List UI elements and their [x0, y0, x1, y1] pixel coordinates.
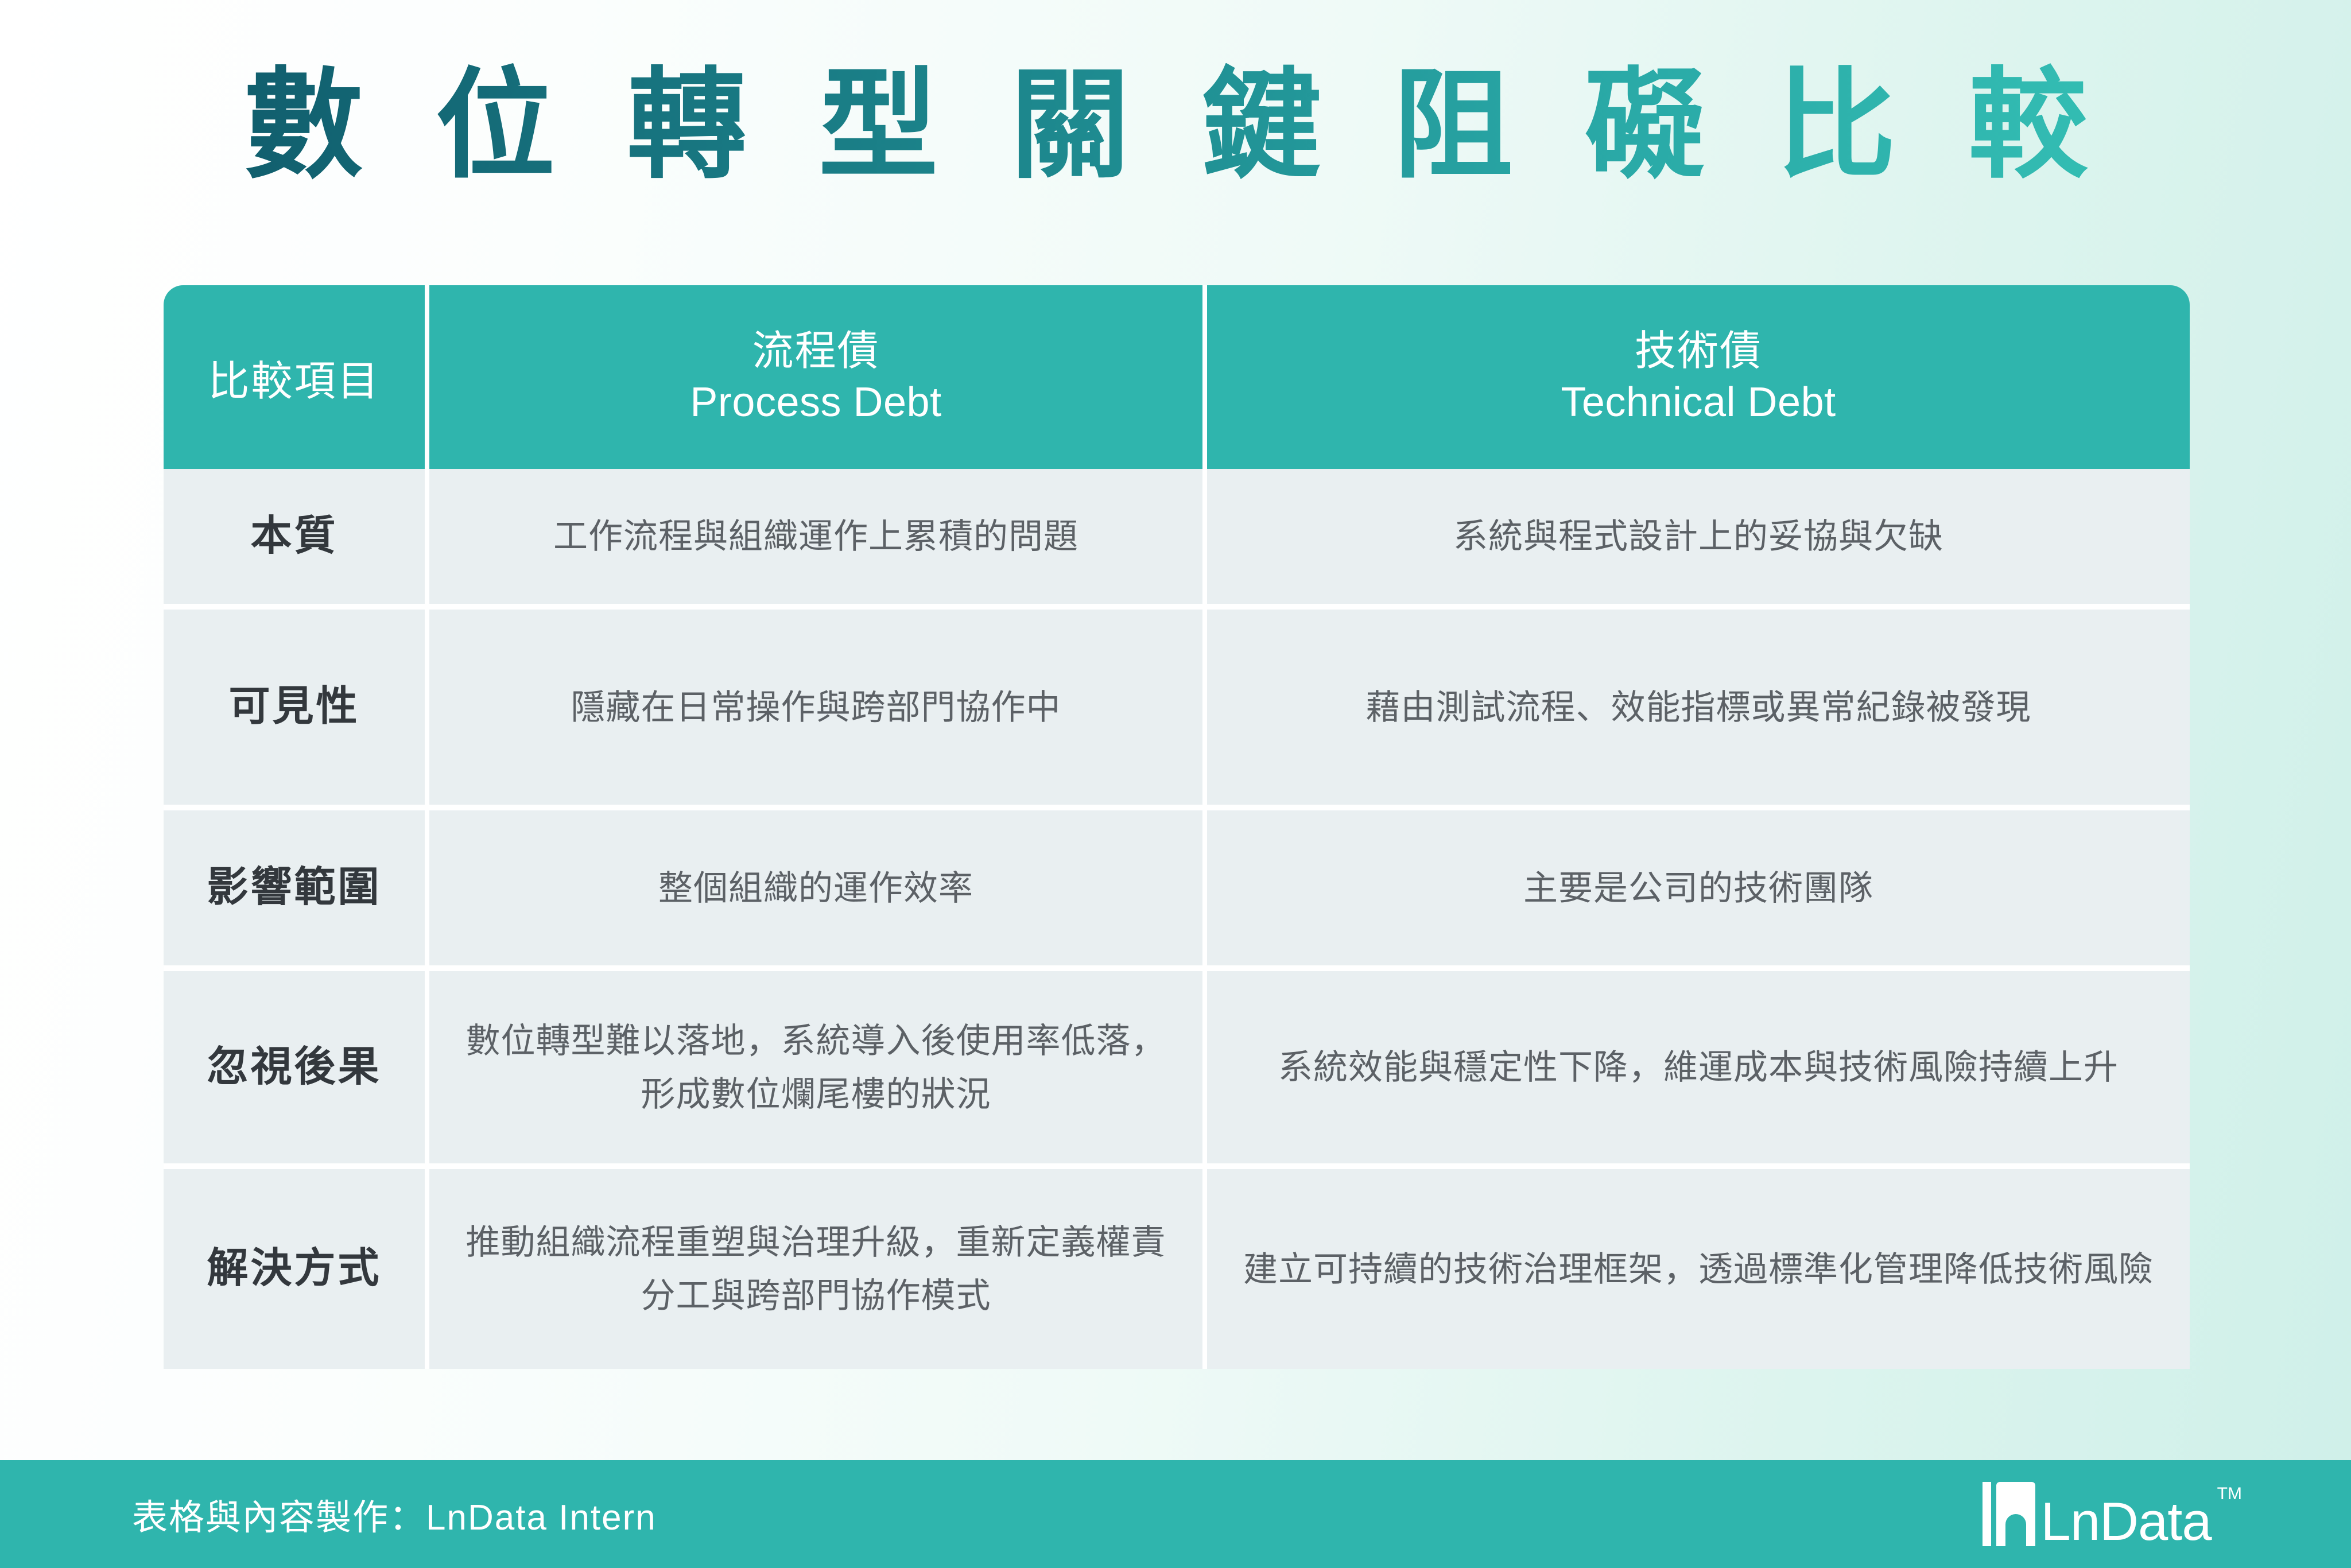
lndata-logo: LnData TM	[1983, 1482, 2242, 1546]
header-cell-process-debt: 流程債 Process Debt	[425, 285, 1202, 469]
footer-credit-text: 表格與內容製作：LnData Intern	[132, 1488, 657, 1540]
header-cell-technical-debt: 技術債 Technical Debt	[1202, 285, 2190, 469]
table-row: 本質 工作流程與組織運作上累積的問題 系統與程式設計上的妥協與欠缺	[164, 469, 2190, 604]
table-row: 可見性 隱藏在日常操作與跨部門協作中 藉由測試流程、效能指標或異常紀錄被發現	[164, 604, 2190, 805]
header-technical-debt-en: Technical Debt	[1561, 377, 1836, 428]
row-technical-cell: 建立可持續的技術治理框架，透過標準化管理降低技術風險	[1202, 1169, 2190, 1369]
header-cell-compare-item: 比較項目	[164, 285, 425, 469]
row-process-cell: 推動組織流程重塑與治理升級，重新定義權責分工與跨部門協作模式	[425, 1169, 1202, 1369]
row-technical-cell: 藉由測試流程、效能指標或異常紀錄被發現	[1202, 610, 2190, 805]
row-process-cell: 隱藏在日常操作與跨部門協作中	[425, 610, 1202, 805]
row-technical-text: 建立可持續的技術治理框架，透過標準化管理降低技術風險	[1243, 1243, 2154, 1296]
row-label-text: 本質	[250, 510, 337, 564]
table-header-row: 比較項目 流程債 Process Debt 技術債 Technical Debt	[164, 285, 2190, 469]
row-process-text: 推動組織流程重塑與治理升級，重新定義權責分工與跨部門協作模式	[456, 1216, 1176, 1322]
row-process-text: 整個組織的運作效率	[658, 861, 973, 915]
row-technical-cell: 主要是公司的技術團隊	[1202, 810, 2190, 965]
row-label-text: 忽視後果	[207, 1041, 381, 1095]
header-compare-item-label: 比較項目	[208, 347, 380, 407]
row-label-cell: 可見性	[164, 610, 425, 805]
table-row: 解決方式 推動組織流程重塑與治理升級，重新定義權責分工與跨部門協作模式 建立可持…	[164, 1163, 2190, 1369]
row-process-text: 數位轉型難以落地，系統導入後使用率低落，形成數位爛尾樓的狀況	[456, 1014, 1176, 1121]
row-label-cell: 影響範圍	[164, 810, 425, 965]
row-label-text: 影響範圍	[207, 861, 381, 915]
header-process-debt-en: Process Debt	[690, 377, 941, 428]
row-technical-text: 系統效能與穩定性下降，維運成本與技術風險持續上升	[1278, 1041, 2119, 1094]
row-technical-cell: 系統效能與穩定性下降，維運成本與技術風險持續上升	[1202, 971, 2190, 1163]
row-technical-text: 主要是公司的技術團隊	[1523, 861, 1873, 915]
title-container: 數 位 轉 型 關 鍵 阻 礙 比 較	[0, 63, 2351, 188]
row-label-text: 可見性	[228, 680, 359, 734]
trademark-symbol: TM	[2217, 1484, 2242, 1504]
header-process-debt-cn: 流程債	[752, 326, 879, 377]
row-technical-text: 系統與程式設計上的妥協與欠缺	[1453, 510, 1943, 563]
row-label-text: 解決方式	[207, 1242, 381, 1296]
row-process-text: 隱藏在日常操作與跨部門協作中	[571, 681, 1061, 734]
table-row: 影響範圍 整個組織的運作效率 主要是公司的技術團隊	[164, 805, 2190, 965]
row-process-cell: 數位轉型難以落地，系統導入後使用率低落，形成數位爛尾樓的狀況	[425, 971, 1202, 1163]
logo-arch-icon	[1996, 1482, 2035, 1546]
row-process-text: 工作流程與組織運作上累積的問題	[553, 510, 1078, 563]
comparison-table: 比較項目 流程債 Process Debt 技術債 Technical Debt…	[164, 285, 2190, 1443]
footer-bar: 表格與內容製作：LnData Intern LnData TM	[0, 1460, 2351, 1568]
table-row: 忽視後果 數位轉型難以落地，系統導入後使用率低落，形成數位爛尾樓的狀況 系統效能…	[164, 965, 2190, 1163]
lndata-logo-wordmark: LnData	[2041, 1497, 2212, 1546]
logo-bar-icon	[1983, 1482, 1991, 1546]
row-label-cell: 忽視後果	[164, 971, 425, 1163]
row-technical-text: 藉由測試流程、效能指標或異常紀錄被發現	[1366, 681, 2031, 734]
row-technical-cell: 系統與程式設計上的妥協與欠缺	[1202, 469, 2190, 604]
row-label-cell: 本質	[164, 469, 425, 604]
lndata-logo-mark-icon	[1983, 1482, 2035, 1546]
row-process-cell: 工作流程與組織運作上累積的問題	[425, 469, 1202, 604]
row-process-cell: 整個組織的運作效率	[425, 810, 1202, 965]
page-title: 數 位 轉 型 關 鍵 阻 礙 比 較	[244, 63, 2107, 188]
row-label-cell: 解決方式	[164, 1169, 425, 1369]
header-technical-debt-cn: 技術債	[1635, 326, 1762, 377]
